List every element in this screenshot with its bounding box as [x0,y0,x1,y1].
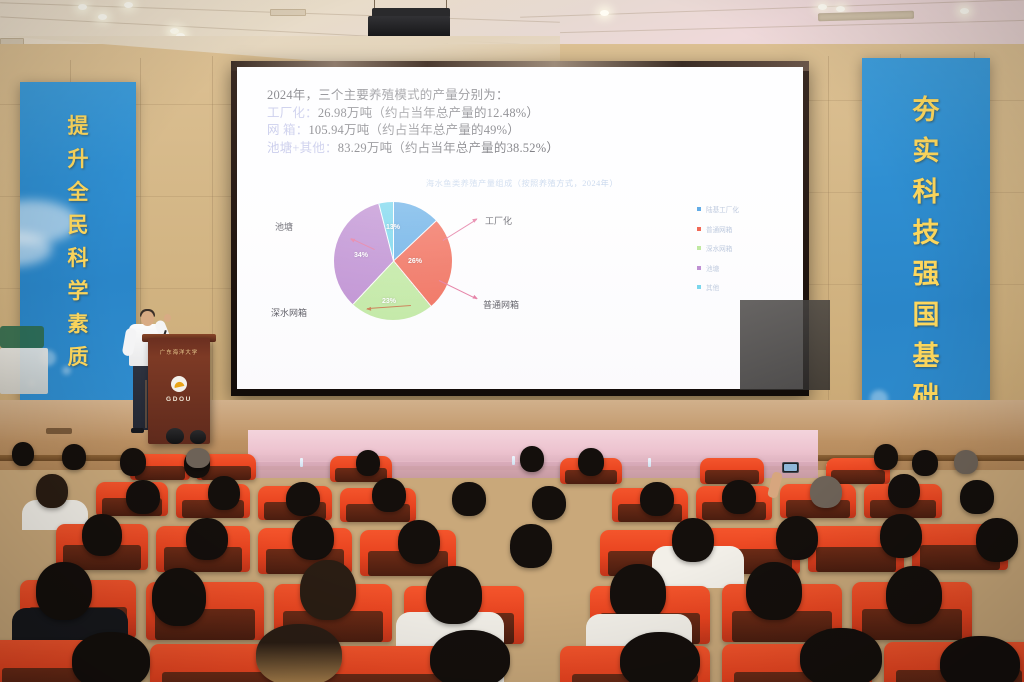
audience-head [776,516,818,560]
speaker-head [141,311,154,326]
legend-swatch [697,207,701,211]
audience-head [452,482,486,516]
slide-row: 工厂化：26.98万吨（约占当年总产量的12.48%） [267,105,777,123]
audience-head [12,442,34,466]
auditorium-photo: 提 升 全 民 科 学 素 质 夯 实 科 技 强 国 基 础 2024年，三个… [0,0,1024,682]
pie-chart: 13% 26% 23% 34% 池塘 工厂化 深水网箱 普通网箱 [267,196,777,336]
audience-head [800,628,882,682]
legend-swatch [697,227,701,231]
podium-acronym: GDOU [148,396,210,403]
audience-head [810,476,842,508]
slide-row: 池塘+其他：83.29万吨（约占当年总产量的38.52%） [267,140,777,158]
audience-head [120,448,146,476]
audience-head [36,474,68,508]
legend-label: 陆基工厂化 [706,204,739,214]
presentation-slide: 2024年，三个主要养殖模式的产量分别为： 工厂化：26.98万吨（约占当年总产… [237,67,803,389]
audience-head [520,446,544,472]
line-array-speaker [368,16,450,38]
pie-value-label: 34% [354,252,368,259]
stage-floor-cable [46,428,72,434]
audience-head [62,444,86,470]
audience-head [82,514,122,556]
audience-head [954,450,978,474]
pie-callout-label: 池塘 [275,220,293,233]
legend-item: 深水网箱 [697,243,771,253]
podium-university-name: 广东海洋大学 [148,348,210,356]
audience-head [300,560,356,620]
slide-row-value: 26.98万吨（约占当年总产量的12.48%） [318,106,539,120]
audience-head [430,630,510,682]
banner-right: 夯 实 科 技 强 国 基 础 [862,58,990,458]
audience-head [880,514,922,558]
slide-row-value: 83.29万吨（约占当年总产量的38.52%） [338,141,559,155]
audience-head [356,450,380,476]
legend-label: 池塘 [706,263,719,273]
audience-head [960,480,994,514]
banner-left-char: 民 [20,209,136,242]
audience-head [532,486,566,520]
audience-head [208,476,240,510]
banner-right-text: 夯 实 科 技 强 国 基 础 [862,90,990,418]
banner-left-char: 全 [20,176,136,209]
banner-right-char: 实 [862,131,990,172]
pie-slice-divider [393,202,394,261]
banner-left-char: 升 [20,143,136,176]
ceiling-downlight [960,8,969,14]
banner-left-char: 提 [20,110,136,143]
audience-head [186,448,210,468]
audience-head [256,624,342,682]
audience-head [426,566,482,624]
slide-row: 网 箱：105.94万吨（约占当年总产量的49%） [267,122,777,140]
slide-row-key: 网 箱： [267,123,308,137]
audience-head [620,632,700,682]
slide-row-key: 工厂化： [267,106,318,120]
ceiling-downlight [600,10,609,16]
ceiling-downlight [78,4,87,10]
pie-callout-label: 深水网箱 [271,306,307,319]
stage-prop-green [0,326,44,348]
chart-title: 海水鱼类养殖产量组成（按照养殖方式，2024年） [267,177,777,189]
banner-left-char: 学 [20,275,136,308]
pie-value-label: 13% [386,224,400,231]
audience-head [672,518,714,562]
audience-head [976,518,1018,562]
pie-value-label: 26% [408,258,422,265]
audience-head [640,482,674,516]
audience-head [510,524,552,568]
legend-label: 普通网箱 [706,224,732,234]
legend-swatch [697,266,701,270]
legend-label: 其他 [706,282,719,292]
slide-row-key: 池塘+其他： [267,141,338,155]
audience-head [940,636,1020,682]
audience-head [292,516,334,560]
ceiling-downlight [818,4,827,10]
stage-prop-white-panel [0,348,48,394]
banner-left-char: 科 [20,242,136,275]
speaker-shoe [131,428,144,433]
audience-head [722,480,756,514]
ceiling-vent [270,9,306,16]
audience-head [152,568,206,626]
audience-head [72,632,150,682]
legend-item: 其他 [697,282,771,292]
speaker-leg-gap [145,380,147,428]
legend-swatch [697,246,701,250]
legend-swatch [697,285,701,289]
projection-screen: 2024年，三个主要养殖模式的产量分别为： 工厂化：26.98万吨（约占当年总产… [237,67,803,389]
audience-head [746,562,802,620]
speaker-right-hand [164,314,171,322]
gdou-logo-icon [171,376,187,392]
side-wall-dark-panel [740,300,830,390]
banner-right-char: 国 [862,295,990,336]
banner-right-char: 夯 [862,90,990,131]
banner-right-char: 技 [862,213,990,254]
smartphone[interactable] [782,462,799,473]
legend-label: 深水网箱 [706,243,732,253]
audience-head [126,480,160,514]
pie-graphic: 13% 26% 23% 34% [334,202,452,320]
wall-panel-line [212,56,213,416]
audience-head [372,478,406,512]
audience-head [874,444,898,470]
legend-item: 陆基工厂化 [697,204,771,214]
ceiling-downlight [98,14,107,20]
audience-head [36,562,92,620]
chart-legend: 陆基工厂化 普通网箱 深水网箱 池塘 [697,204,771,302]
banner-right-char: 基 [862,336,990,377]
audience-head [886,566,942,624]
banner-right-char: 强 [862,254,990,295]
pie-value-label: 23% [382,298,396,305]
banner-right-char: 科 [862,172,990,213]
slide-row-value: 105.94万吨（约占当年总产量的49%） [308,123,520,137]
audience-head [578,448,604,476]
audience-head [888,474,920,508]
pie-callout-label: 工厂化 [485,214,512,227]
legend-item: 池塘 [697,263,771,273]
legend-item: 普通网箱 [697,224,771,234]
ceiling-downlight [836,6,845,12]
audience-head [186,518,228,560]
ceiling-downlight [124,2,133,8]
slide-intro-line: 2024年，三个主要养殖模式的产量分别为： [267,87,777,105]
audience [0,440,1024,682]
pie-callout-label: 普通网箱 [483,298,519,311]
audience-head [398,520,440,564]
audience-head [912,450,938,476]
audience-head [286,482,320,516]
